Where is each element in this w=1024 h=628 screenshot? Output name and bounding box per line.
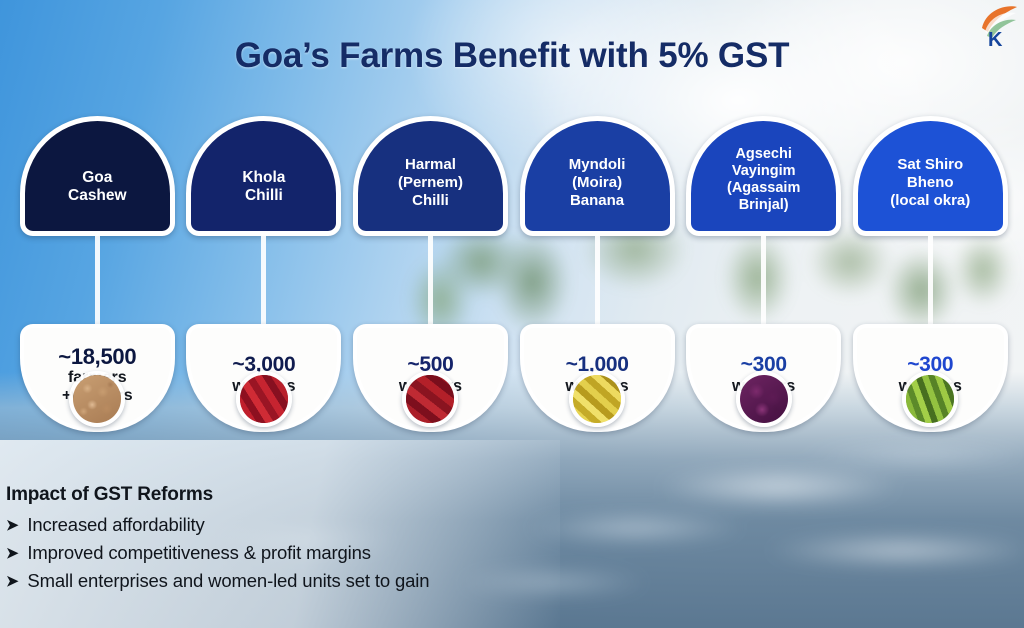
- page-title: Goa’s Farms Benefit with 5% GST: [0, 36, 1024, 76]
- okra-icon: [902, 371, 958, 427]
- arrow-bullet-icon: ➤: [6, 518, 18, 533]
- produce-header-card[interactable]: Harmal (Pernem) Chilli: [353, 116, 508, 236]
- brinjal-icon: [736, 371, 792, 427]
- produce-value-number: ~18,500: [58, 345, 136, 369]
- impact-bullet-text: Improved competitiveness & profit margin…: [27, 542, 370, 564]
- impact-bullet-item: ➤ Improved competitiveness & profit marg…: [6, 542, 429, 564]
- produce-header-label: Goa Cashew: [62, 169, 133, 206]
- produce-header-label: Harmal (Pernem) Chilli: [392, 156, 469, 209]
- produce-column-agsechi-brinjal: Agsechi Vayingim (Agassaim Brinjal) ~300…: [680, 116, 847, 436]
- produce-header-card[interactable]: Khola Chilli: [186, 116, 341, 236]
- produce-columns: Goa Cashew ~18,500 farmers +workers Khol…: [14, 116, 1014, 436]
- produce-column-goa-cashew: Goa Cashew ~18,500 farmers +workers: [14, 116, 181, 436]
- arrow-bullet-icon: ➤: [6, 546, 18, 561]
- produce-column-sat-shiro-bheno: Sat Shiro Bheno (local okra) ~300 worker…: [847, 116, 1014, 436]
- produce-header-label: Myndoli (Moira) Banana: [563, 156, 632, 209]
- produce-column-khola-chilli: Khola Chilli ~3,000 workers: [181, 116, 348, 436]
- impact-section: Impact of GST Reforms ➤ Increased afford…: [6, 484, 429, 598]
- impact-bullet-item: ➤ Small enterprises and women-led units …: [6, 570, 429, 592]
- svg-text:K: K: [988, 29, 1003, 48]
- produce-header-card[interactable]: Agsechi Vayingim (Agassaim Brinjal): [686, 116, 841, 236]
- produce-header-card[interactable]: Myndoli (Moira) Banana: [520, 116, 675, 236]
- infographic-canvas: K Goa’s Farms Benefit with 5% GST Goa Ca…: [0, 0, 1024, 628]
- banana-icon: [569, 371, 625, 427]
- produce-header-label: Agsechi Vayingim (Agassaim Brinjal): [721, 146, 806, 214]
- produce-header-card[interactable]: Goa Cashew: [20, 116, 175, 236]
- red-chilli-icon: [236, 371, 292, 427]
- produce-header-label: Sat Shiro Bheno (local okra): [884, 156, 976, 209]
- produce-column-myndoli-banana: Myndoli (Moira) Banana ~1,000 workers: [514, 116, 681, 436]
- produce-column-harmal-chilli: Harmal (Pernem) Chilli ~500 workers: [347, 116, 514, 436]
- impact-bullet-text: Small enterprises and women-led units se…: [27, 570, 429, 592]
- publisher-logo: K: [976, 2, 1018, 48]
- cashew-icon: [69, 371, 125, 427]
- produce-header-label: Khola Chilli: [236, 169, 291, 206]
- impact-heading: Impact of GST Reforms: [6, 484, 429, 506]
- impact-bullet-text: Increased affordability: [27, 514, 204, 536]
- dried-chilli-icon: [402, 371, 458, 427]
- impact-bullet-item: ➤ Increased affordability: [6, 514, 429, 536]
- produce-header-card[interactable]: Sat Shiro Bheno (local okra): [853, 116, 1008, 236]
- arrow-bullet-icon: ➤: [6, 574, 18, 589]
